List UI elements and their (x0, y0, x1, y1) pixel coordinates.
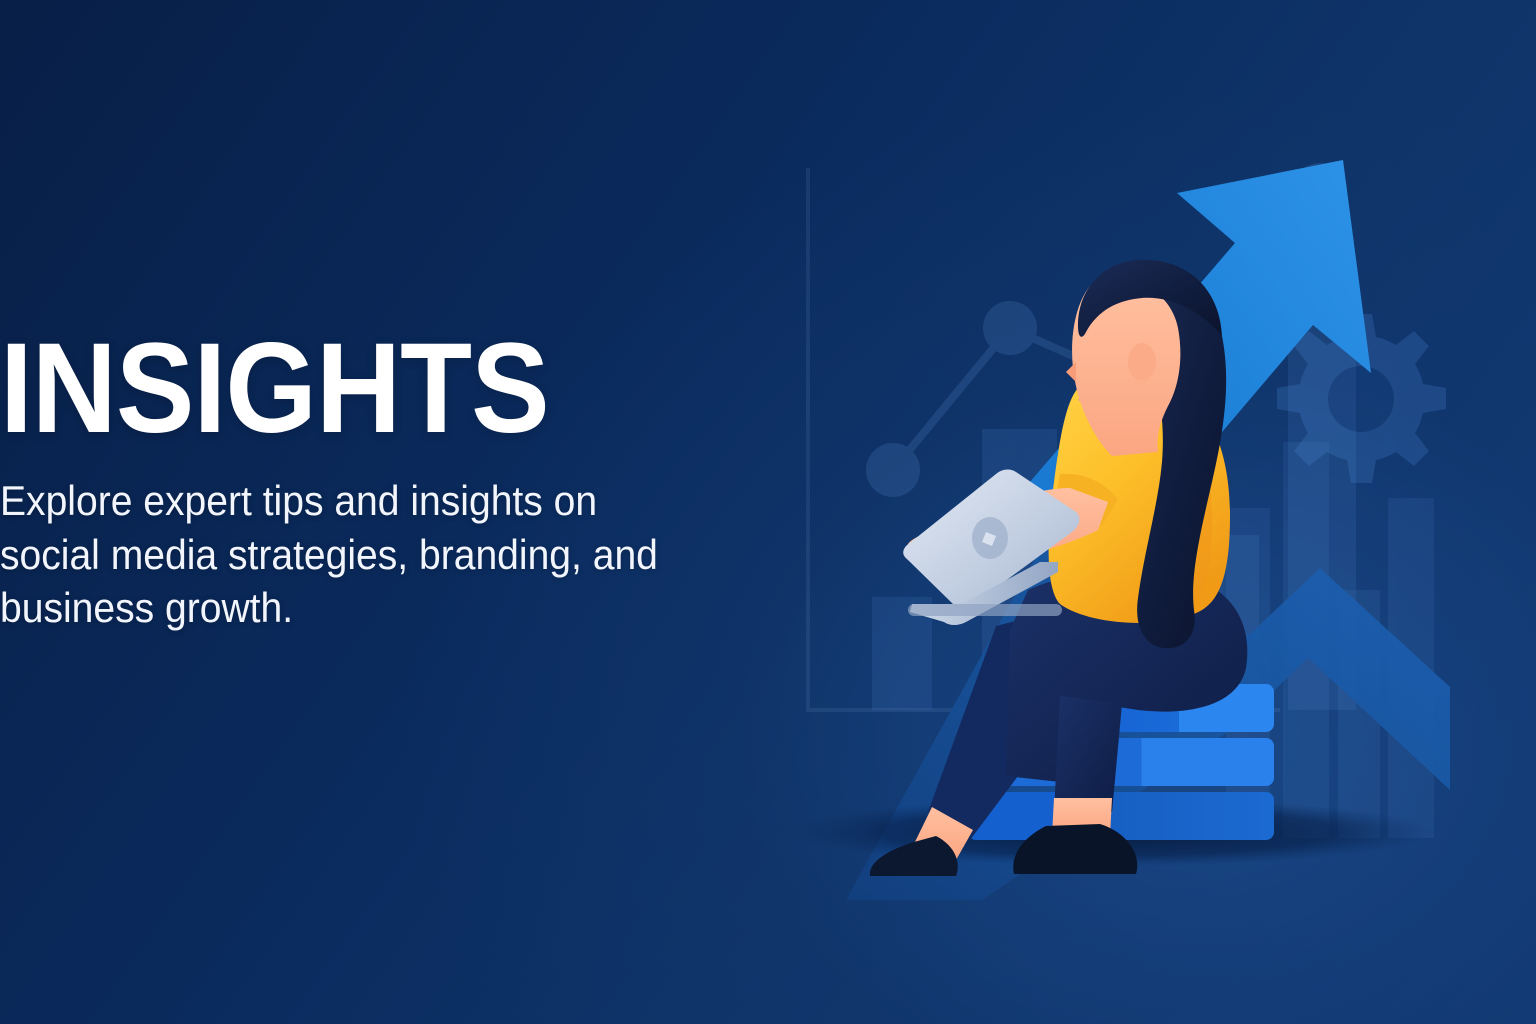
line-node-1 (866, 443, 920, 497)
copy-block: INSIGHTS Explore expert tips and insight… (0, 330, 740, 635)
illustration-svg (760, 70, 1480, 900)
hero-illustration (760, 70, 1480, 900)
page-title: INSIGHTS (0, 330, 681, 448)
block-bottom (968, 792, 1274, 840)
page-subtitle: Explore expert tips and insights on soci… (0, 474, 688, 635)
line-node-2 (983, 301, 1037, 355)
ear (1128, 343, 1156, 381)
insights-banner: INSIGHTS Explore expert tips and insight… (0, 0, 1536, 1024)
